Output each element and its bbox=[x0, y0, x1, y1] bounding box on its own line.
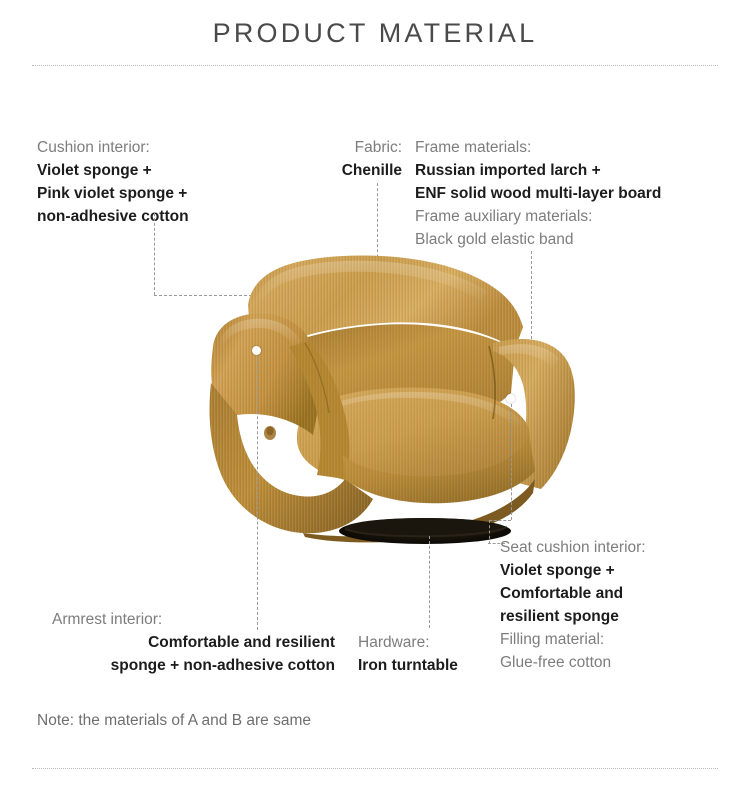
leader-seat-cushion-vertical bbox=[511, 404, 512, 520]
armrest-interior-value-1: Comfortable and resilient bbox=[30, 631, 335, 654]
armrest-interior-label: Armrest interior: bbox=[30, 608, 335, 631]
frame-materials-value-2: ENF solid wood multi-layer board bbox=[415, 182, 661, 205]
callout-armrest-interior: Armrest interior: Comfortable and resili… bbox=[30, 608, 335, 677]
seat-cushion-interior-label: Seat cushion interior: bbox=[500, 536, 646, 559]
callout-cushion-interior: Cushion interior: Violet sponge + Pink v… bbox=[37, 136, 189, 228]
note-text: Note: the materials of A and B are same bbox=[37, 710, 311, 732]
seat-cushion-interior-value-3: resilient sponge bbox=[500, 605, 646, 628]
armrest-interior-value-2: sponge + non-adhesive cotton bbox=[30, 654, 335, 677]
frame-materials-value-1: Russian imported larch + bbox=[415, 159, 661, 182]
product-image-armchair bbox=[193, 243, 583, 548]
leader-armrest-vertical bbox=[257, 356, 258, 630]
leader-cushion-vertical bbox=[154, 213, 155, 295]
cushion-interior-value-2: Pink violet sponge + bbox=[37, 182, 189, 205]
frame-auxiliary-label: Frame auxiliary materials: bbox=[415, 205, 661, 228]
callout-dot-seat-cushion bbox=[506, 394, 515, 403]
divider-top bbox=[32, 65, 718, 66]
hardware-value-1: Iron turntable bbox=[358, 654, 458, 677]
cushion-interior-value-1: Violet sponge + bbox=[37, 159, 189, 182]
hardware-label: Hardware: bbox=[358, 631, 458, 654]
frame-materials-label: Frame materials: bbox=[415, 136, 661, 159]
leader-hardware-vertical bbox=[429, 536, 430, 628]
filling-material-value-1: Glue-free cotton bbox=[500, 651, 646, 674]
filling-material-label: Filling material: bbox=[500, 628, 646, 651]
fabric-label: Fabric: bbox=[255, 136, 402, 159]
callout-hardware: Hardware: Iron turntable bbox=[358, 631, 458, 677]
callout-seat-cushion-interior: Seat cushion interior: Violet sponge + C… bbox=[500, 536, 646, 674]
cushion-interior-value-3: non-adhesive cotton bbox=[37, 205, 189, 228]
callout-frame-materials: Frame materials: Russian imported larch … bbox=[415, 136, 661, 251]
page-title: PRODUCT MATERIAL bbox=[0, 16, 750, 50]
leader-seat-cushion-elbow bbox=[489, 520, 490, 544]
callout-fabric: Fabric: Chenille bbox=[255, 136, 402, 182]
infographic-page: PRODUCT MATERIAL Cushion interior: Viole… bbox=[0, 0, 750, 790]
seat-cushion-interior-value-2: Comfortable and bbox=[500, 582, 646, 605]
leader-seat-cushion-top bbox=[489, 520, 511, 521]
divider-bottom bbox=[32, 768, 718, 769]
cushion-interior-label: Cushion interior: bbox=[37, 136, 189, 159]
callout-dot-armrest bbox=[252, 346, 261, 355]
fabric-value-1: Chenille bbox=[255, 159, 402, 182]
seat-cushion-interior-value-1: Violet sponge + bbox=[500, 559, 646, 582]
